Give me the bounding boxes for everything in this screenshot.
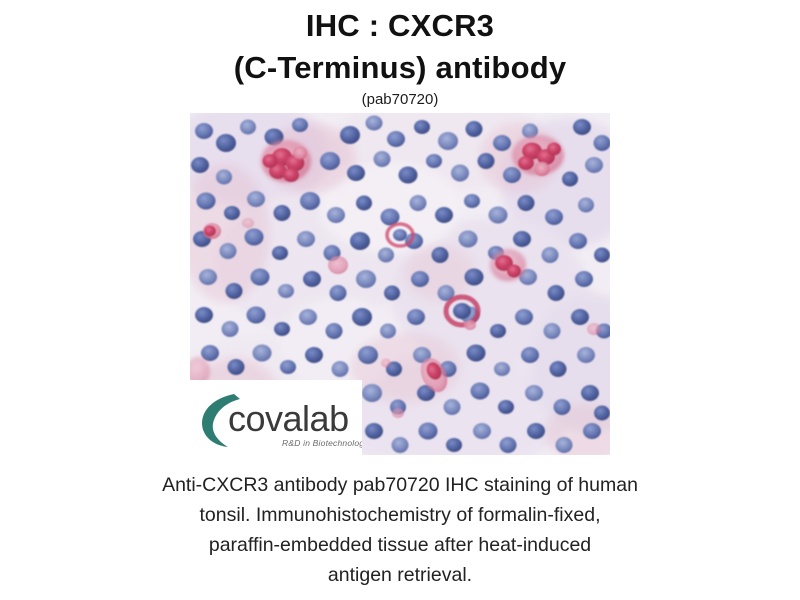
covalab-wordmark-text: covalab [228,398,349,439]
title-block: IHC : CXCR3 (C-Terminus) antibody (pab70… [0,0,800,110]
caption-line-3: paraffin-embedded tissue after heat-indu… [100,530,700,560]
page-title: IHC : CXCR3 (C-Terminus) antibody [0,0,800,89]
page-title-line-1: IHC : CXCR3 [0,5,800,47]
ihc-micrograph-image: covalab R&D in Biotechnology [190,113,610,455]
caption-line-2: tonsil. Immunohistochemistry of formalin… [100,500,700,530]
covalab-logo: covalab R&D in Biotechnology [190,380,362,455]
figure-caption: Anti-CXCR3 antibody pab70720 IHC stainin… [100,470,700,590]
catalog-number: (pab70720) [0,90,800,110]
covalab-tagline-text: R&D in Biotechnology [282,438,362,448]
caption-line-4: antigen retrieval. [100,560,700,590]
page-title-line-2: (C-Terminus) antibody [0,47,800,89]
caption-line-1: Anti-CXCR3 antibody pab70720 IHC stainin… [100,470,700,500]
